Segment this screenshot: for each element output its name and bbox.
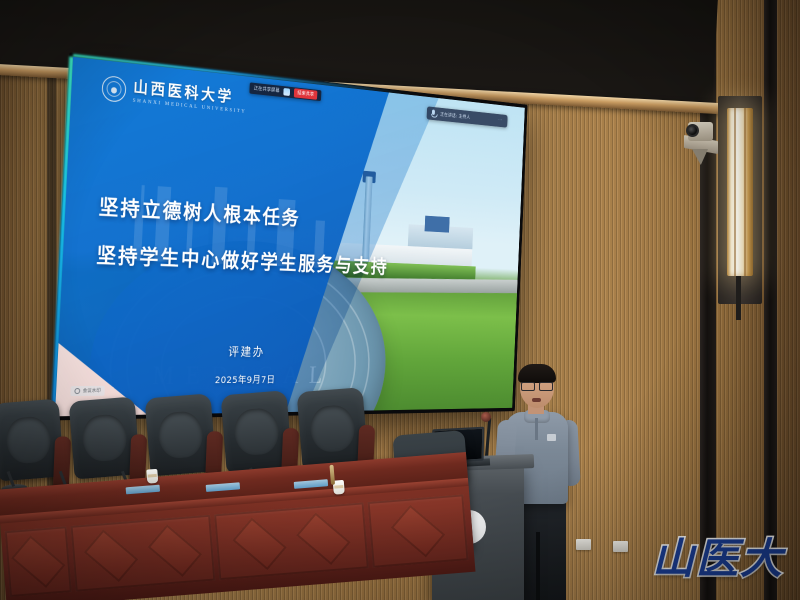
conference-hall-photo: MEDICAL 山西医科大学 SHANXI MEDICAL UNIVERSITY… [0,0,800,600]
wall-pilaster-right [764,0,777,600]
presenter-leg-gap [536,532,540,600]
microphone-icon [431,109,436,117]
table-panel-1 [5,526,72,597]
microphone-head-icon [481,412,491,422]
presenter-mouth [532,398,541,402]
corner-watermark: 山医大 [652,525,784,586]
screen-share-label: 正在共享屏幕 [254,85,280,94]
sconce-stem [736,276,741,320]
glasses-icon [521,382,553,389]
table-panel-4 [368,494,469,567]
wall-light-icon [727,108,753,276]
conference-furniture-group [0,360,475,600]
screen-share-icon [284,88,291,96]
table-panel-3 [214,502,369,580]
camera-lens-icon [686,124,699,137]
table-panel-2 [71,515,216,592]
more-options-icon[interactable]: ··· [497,118,503,124]
presenter-hair [518,364,556,383]
slide-department: 评建办 [191,342,301,360]
university-seal-icon [101,75,126,103]
paper-cup-1 [146,469,158,484]
wall-outlet-right [613,541,628,552]
presenter-placket [535,418,538,440]
stop-share-button[interactable]: 结束共享 [294,88,317,100]
active-speaker-label: 正在讲话: 主持人 [440,111,470,120]
presenter-chest-logo [547,434,556,441]
building-roof-block [425,215,450,232]
